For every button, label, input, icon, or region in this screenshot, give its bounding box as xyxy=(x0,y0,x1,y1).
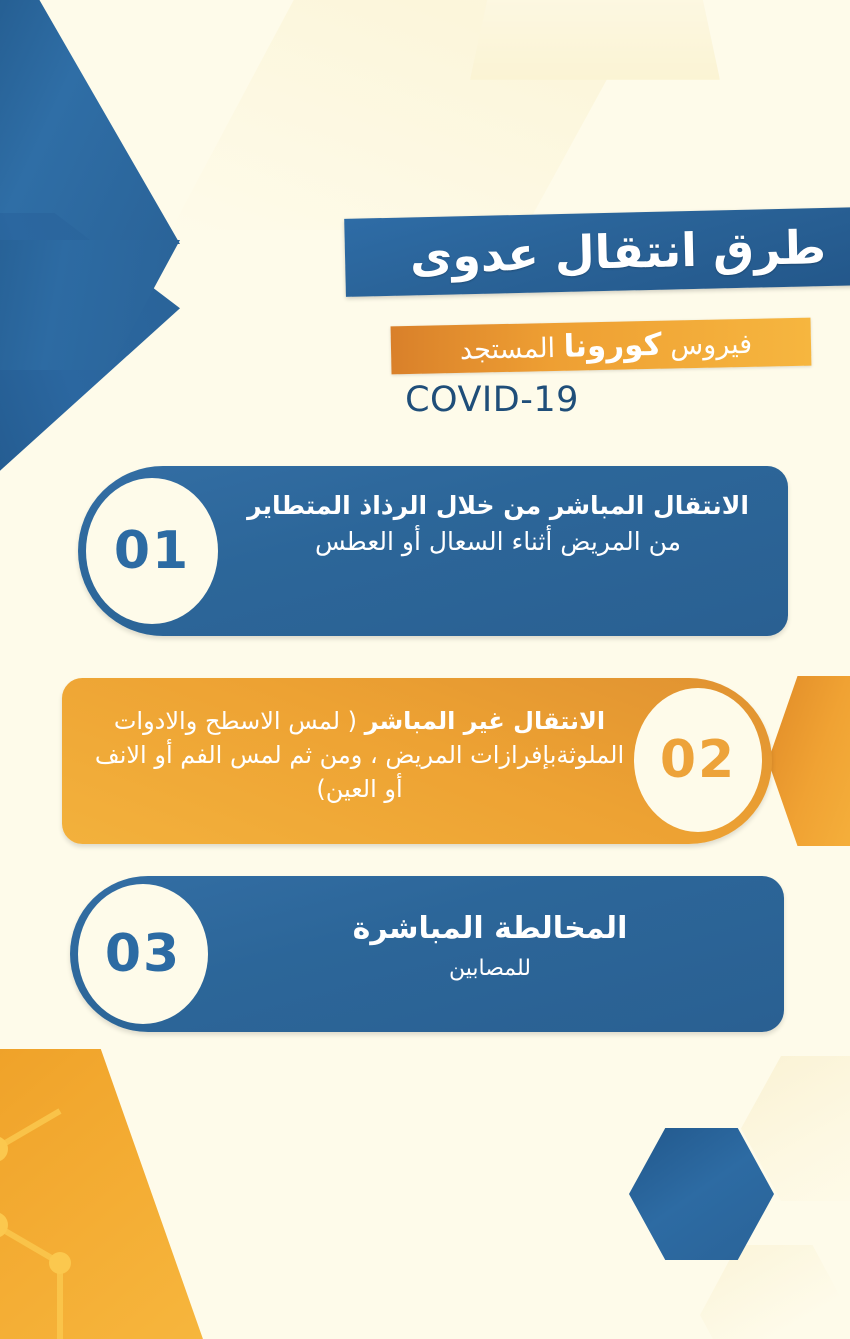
item-01-number-badge: 01 xyxy=(86,478,218,624)
transmission-item-01: 01 الانتقال المباشر من خلال الرذاذ المتط… xyxy=(78,466,788,636)
item-03-number: 03 xyxy=(105,924,181,984)
item-01-text: الانتقال المباشر من خلال الرذاذ المتطاير… xyxy=(228,488,768,559)
page-title-banner: طرق انتقال عدوى xyxy=(344,207,850,297)
cream-trapezoid-decor xyxy=(470,0,720,80)
cream-hexagon-icon xyxy=(741,1056,850,1201)
subtitle-suffix: المستجد xyxy=(460,333,556,366)
item-02-number: 02 xyxy=(660,730,736,790)
item-01-number: 01 xyxy=(114,521,190,581)
subtitle-banner: فيروس كورونا المستجد xyxy=(391,318,812,375)
transmission-item-02: 02 الانتقال غير المباشر ( لمس الاسطح وال… xyxy=(62,678,772,844)
cream-hexagon-lower-icon xyxy=(700,1245,850,1339)
subtitle-prefix: فيروس xyxy=(670,329,753,362)
item-01-regular-text: من المريض أثناء السعال أو العطس xyxy=(315,527,681,556)
item-03-regular-text: للمصابين xyxy=(220,953,760,984)
blue-chevron-arrow-decor xyxy=(0,213,180,493)
subtitle-text: فيروس كورونا المستجد xyxy=(450,325,753,367)
infographic-poster: طرق انتقال عدوى فيروس كورونا المستجد COV… xyxy=(0,0,850,1339)
transmission-item-03: 03 المخالطة المباشرةللمصابين xyxy=(70,876,784,1032)
item-02-bold-text: الانتقال غير المباشر xyxy=(365,707,606,735)
item-02-number-badge: 02 xyxy=(634,688,762,832)
covid-label: COVID-19 xyxy=(392,380,592,420)
cream-trapezoid-large-decor xyxy=(140,0,760,230)
item-02-text: الانتقال غير المباشر ( لمس الاسطح والادو… xyxy=(87,704,632,806)
item-03-bold-text: المخالطة المباشرة xyxy=(353,911,628,946)
page-title: طرق انتقال عدوى xyxy=(383,220,826,284)
item-03-text: المخالطة المباشرةللمصابين xyxy=(220,908,760,984)
item-01-bold-text: الانتقال المباشر من خلال الرذاذ المتطاير xyxy=(247,491,749,520)
orange-hexagon-icon xyxy=(768,676,850,846)
blue-hexagon-icon xyxy=(629,1128,774,1260)
item-03-number-badge: 03 xyxy=(78,884,208,1024)
orange-network-decor xyxy=(0,1049,210,1339)
blue-chevron-top-decor xyxy=(0,0,180,244)
blue-chevron-mid-decor xyxy=(0,240,180,370)
subtitle-bold: كورونا xyxy=(563,327,662,365)
